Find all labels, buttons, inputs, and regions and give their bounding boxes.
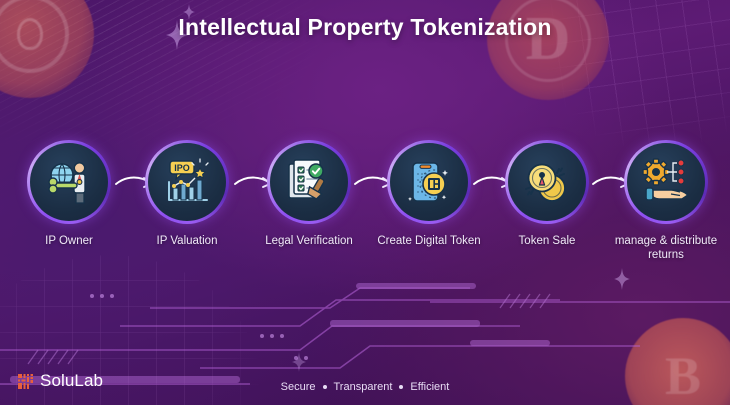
step-disc [267, 140, 351, 224]
ipo-bar-chart-icon: IPO [161, 156, 213, 208]
flow-step-ip-valuation[interactable]: IPO IP Valuation [127, 140, 247, 248]
tagline-bullet-2 [399, 385, 403, 389]
tagline-bullet-1 [323, 385, 327, 389]
step-label: Legal Verification [249, 234, 369, 248]
flow-step-legal-verification[interactable]: Legal Verification [249, 140, 369, 248]
flow-step-ip-owner[interactable]: IP Owner [9, 140, 129, 248]
step-label: Token Sale [487, 234, 607, 248]
sparkle-icon-3 [292, 352, 306, 372]
gold-coins-icon [521, 156, 573, 208]
step-label: manage & distribute returns [604, 234, 728, 263]
flow-step-manage-distribute-returns[interactable]: manage & distribute returns [604, 140, 728, 263]
step-label: IP Valuation [127, 234, 247, 248]
gear-hand-distribute-icon [640, 156, 692, 208]
phone-token-icon [403, 156, 455, 208]
infographic-canvas: D B [0, 0, 730, 405]
step-disc: IPO [145, 140, 229, 224]
tagline-transparent: Transparent [334, 381, 393, 393]
svg-text:IPO: IPO [174, 163, 190, 173]
step-disc [27, 140, 111, 224]
step-label: Create Digital Token [369, 234, 489, 248]
ip-owner-globe-key-icon [43, 156, 95, 208]
checklist-stamp-icon [283, 156, 335, 208]
step-disc [505, 140, 589, 224]
process-flow: IP Owner IPO [0, 140, 730, 270]
sparkle-icon-2 [614, 268, 630, 290]
page-title: Intellectual Property Tokenization [0, 14, 730, 41]
step-disc [387, 140, 471, 224]
step-label: IP Owner [9, 234, 129, 248]
tagline-efficient: Efficient [410, 381, 449, 393]
flow-step-token-sale[interactable]: Token Sale [487, 140, 607, 248]
tagline-secure: Secure [281, 381, 316, 393]
step-disc [624, 140, 708, 224]
bitcoin-glyph: B [665, 345, 701, 405]
footer-tagline: Secure Transparent Efficient [0, 381, 730, 393]
